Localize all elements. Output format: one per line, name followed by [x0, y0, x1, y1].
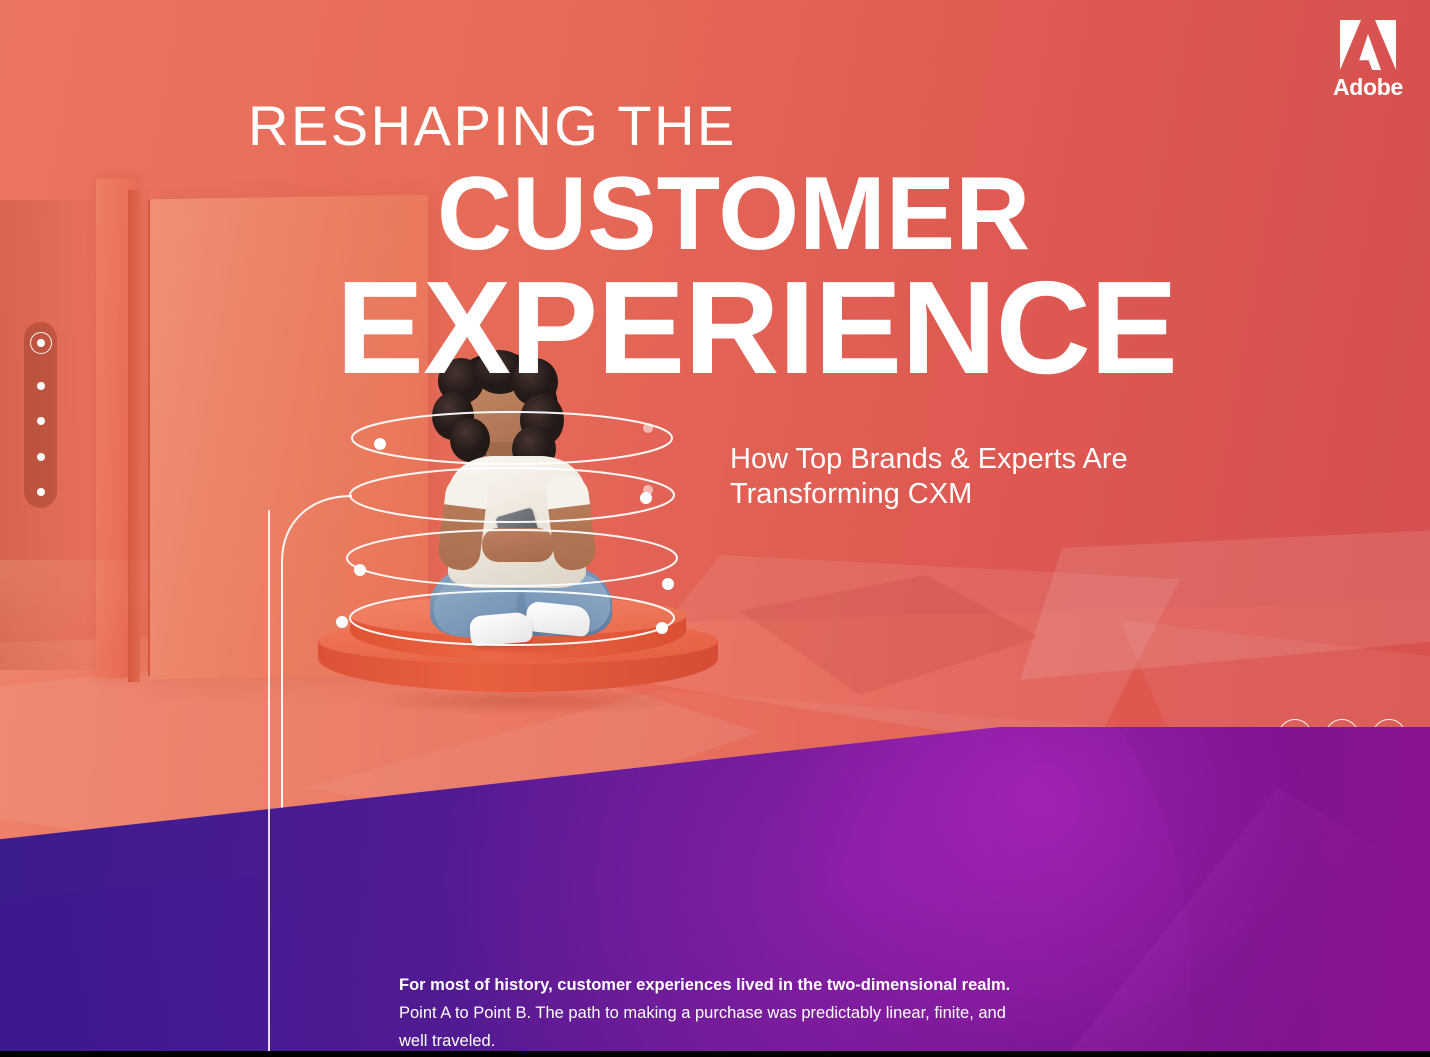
nav-dot-5[interactable] — [37, 488, 45, 496]
hero-page: RESHAPING THE CUSTOMER EXPERIENCE How To… — [0, 0, 1430, 1057]
adobe-wordmark: Adobe — [1332, 74, 1404, 101]
hero-subtitle: How Top Brands & Experts Are Transformin… — [730, 442, 1200, 513]
intro-paragraph: For most of history, customer experience… — [399, 971, 1019, 1056]
page-nav-rail[interactable] — [24, 322, 57, 508]
adobe-logo: Adobe — [1332, 18, 1404, 101]
nav-dot-1-active[interactable] — [30, 332, 52, 354]
nav-dot-3[interactable] — [37, 417, 45, 425]
bottom-edge — [0, 1051, 1430, 1057]
vertical-rule — [268, 510, 270, 1057]
adobe-a-icon — [1338, 18, 1398, 72]
nav-dot-2[interactable] — [37, 382, 45, 390]
nav-dot-4[interactable] — [37, 453, 45, 461]
corner-light-fade — [0, 560, 240, 740]
hero-title-line-1: CUSTOMER — [437, 162, 1030, 266]
intro-lead: For most of history, customer experience… — [399, 976, 1010, 994]
purple-facet — [0, 857, 420, 1057]
hero-title-line-2: EXPERIENCE — [336, 262, 1177, 394]
intro-rest: Point A to Point B. The path to making a… — [399, 1004, 1006, 1050]
hero-eyebrow: RESHAPING THE — [248, 98, 737, 154]
